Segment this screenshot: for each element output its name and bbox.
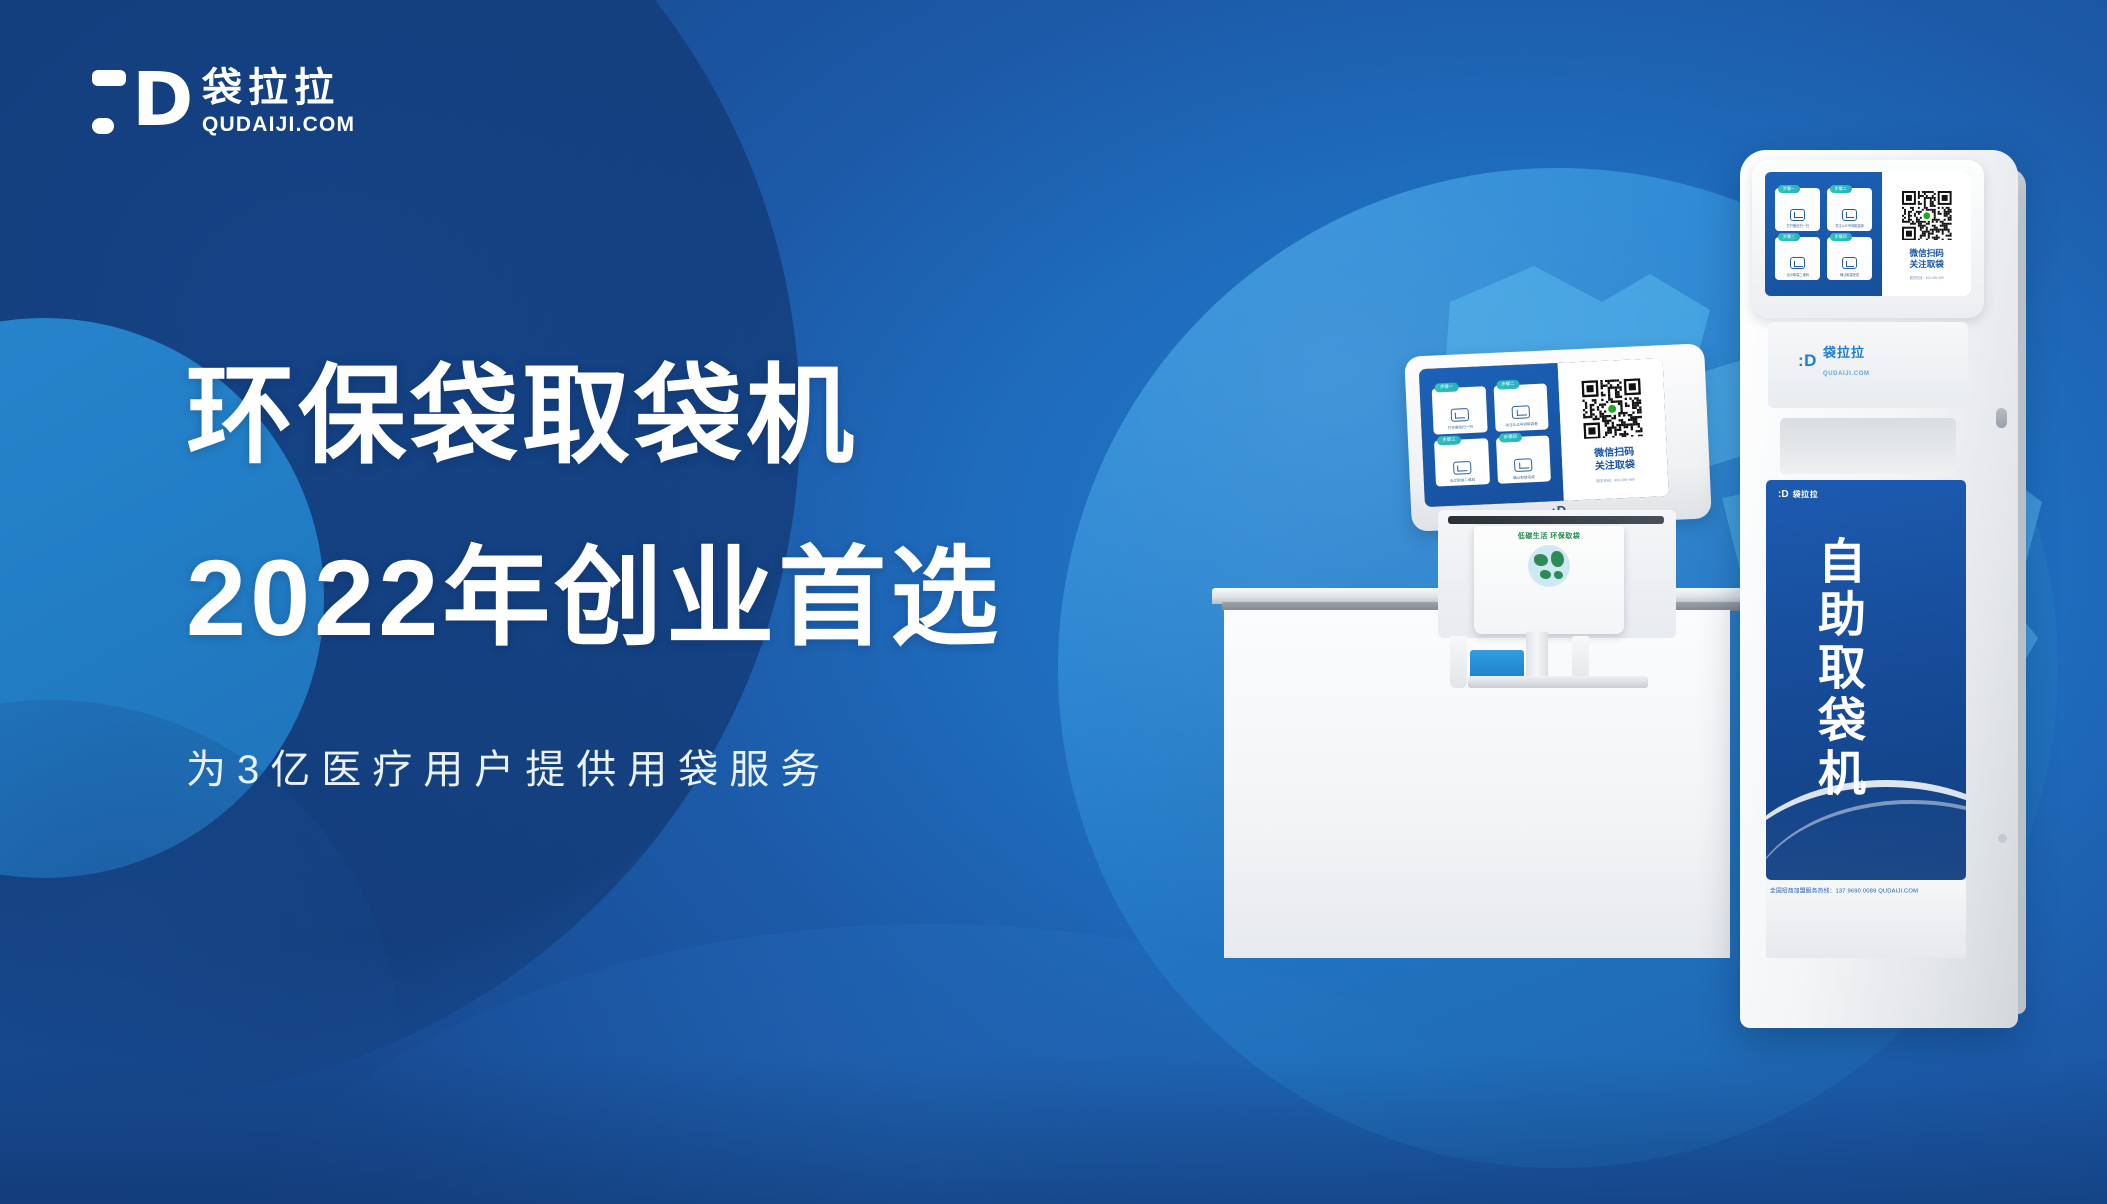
product-scene: 步骤一 打开微信扫一扫 步骤二 关注公众号领取袋券 步骤三 出示取袋二维码 步骤… — [1180, 150, 2060, 1050]
step-card-4[interactable]: 步骤四 确认取袋完成 — [1496, 436, 1551, 484]
qudaiji-d-mark-icon: D — [92, 62, 180, 140]
scan-icon — [1790, 209, 1805, 221]
desktop-bag-dispenser[interactable]: 步骤一 打开微信扫一扫 步骤二 关注公众号领取袋券 步骤三 出示取袋二维码 步骤… — [1408, 350, 1708, 640]
kiosk-d-mark-icon: :D — [1798, 351, 1817, 371]
panel-d-mark-icon: :D — [1778, 489, 1789, 500]
kiosk-head: 步骤一 打开微信扫一扫 步骤二 关注公众号领取袋券 步骤三 出示取袋二维码 步骤… — [1752, 160, 1984, 318]
desktop-unit-head: 步骤一 打开微信扫一扫 步骤二 关注公众号领取袋券 步骤三 出示取袋二维码 步骤… — [1404, 343, 1712, 531]
service-hotline: 服务热线：400-089-989 — [1910, 275, 1944, 280]
step-caption-1: 打开微信扫一扫 — [1787, 224, 1809, 228]
hero-copy: 环保袋取袋机 2022年创业首选 为3亿医疗用户提供用袋服务 — [186, 360, 1186, 794]
stripe-line — [877, 169, 1064, 178]
step-card-3[interactable]: 步骤三 出示取袋二维码 — [1434, 439, 1489, 487]
stripe-line — [845, 98, 1156, 107]
scan-icon — [1450, 408, 1469, 422]
qrcode-icon — [1453, 461, 1472, 475]
step-caption-3: 出示取袋二维码 — [1450, 478, 1475, 484]
self-service-kiosk[interactable]: 步骤一 打开微信扫一扫 步骤二 关注公众号领取袋券 步骤三 出示取袋二维码 步骤… — [1740, 150, 2040, 1030]
wechat-prompt: 微信扫码关注取袋 — [1910, 248, 1944, 270]
hero-subtitle: 为3亿医疗用户提供用袋服务 — [186, 746, 1186, 794]
kiosk-brand-badge: :D 袋拉拉 QUDAIJI.COM — [1798, 348, 1938, 374]
brand-logo[interactable]: D 袋拉拉 QUDAIJI.COM — [92, 62, 355, 140]
stripe-line — [844, 27, 1159, 36]
panel-brand-cn: 袋拉拉 — [1793, 489, 1819, 500]
stripe-line — [840, 63, 1170, 72]
earth-icon — [1528, 545, 1570, 587]
headline-line-2: 2022年创业首选 — [186, 542, 1186, 654]
desktop-unit-stand — [1526, 632, 1548, 680]
step-caption-1: 打开微信扫一扫 — [1448, 425, 1473, 431]
dispensed-bag: 低碳生活 环保取袋 — [1474, 526, 1624, 634]
kiosk-side-port-icon — [1996, 408, 2007, 428]
kiosk-screen[interactable]: 步骤一 打开微信扫一扫 步骤二 关注公众号领取袋券 步骤三 出示取袋二维码 步骤… — [1765, 172, 1971, 296]
kiosk-panel-logo: :D 袋拉拉 — [1778, 489, 1818, 500]
step-card-2[interactable]: 步骤二 关注公众号领取袋券 — [1493, 383, 1548, 431]
check-icon — [1842, 257, 1857, 269]
kiosk-graphic-panel: :D 袋拉拉 自助取袋机 — [1766, 480, 1966, 880]
step-card-4[interactable]: 步骤四 确认取袋完成 — [1827, 237, 1872, 279]
bag-slogan: 低碳生活 环保取袋 — [1518, 531, 1580, 541]
step-label-4: 步骤四 — [1830, 233, 1852, 241]
brand-domain: QUDAIJI.COM — [202, 113, 355, 137]
step-card-3[interactable]: 步骤三 出示取袋二维码 — [1775, 237, 1820, 279]
gift-icon — [1512, 405, 1531, 419]
kiosk-vertical-title: 自助取袋机 — [1808, 536, 1864, 801]
step-label-1: 步骤一 — [1435, 383, 1459, 392]
step-caption-2: 关注公众号领取袋券 — [1505, 422, 1538, 428]
promo-banner: D 袋拉拉 QUDAIJI.COM 环保袋取袋机 2022年创业首选 为3亿医疗… — [0, 0, 2107, 1204]
screen-steps-panel: 步骤一 打开微信扫一扫 步骤二 关注公众号领取袋券 步骤三 出示取袋二维码 步骤… — [1419, 363, 1564, 507]
kiosk-bag-outlet — [1780, 418, 1956, 474]
wechat-prompt: 微信扫码关注取袋 — [1594, 446, 1635, 474]
kiosk-fineprint: 全国招商加盟服务热线：137 9690 0089 QUDAIJI.COM — [1770, 886, 1952, 895]
stripe-line — [889, 187, 1029, 196]
wechat-qr-code[interactable] — [1899, 188, 1954, 243]
stripe-line — [851, 116, 1140, 125]
kiosk-side-screw-icon — [1998, 834, 2007, 843]
screen-qr-panel: 微信扫码关注取袋 服务热线：400-089-989 — [1882, 172, 1971, 296]
stripe-line — [849, 9, 1145, 18]
screen-qr-panel: 微信扫码关注取袋 服务热线：400-089-989 — [1558, 358, 1669, 501]
desktop-unit-screen[interactable]: 步骤一 打开微信扫一扫 步骤二 关注公众号领取袋券 步骤三 出示取袋二维码 步骤… — [1419, 358, 1669, 507]
wechat-qr-code[interactable] — [1578, 375, 1646, 443]
step-caption-3: 出示取袋二维码 — [1787, 273, 1809, 277]
kiosk-badge-cn: 袋拉拉 — [1823, 345, 1865, 360]
gift-icon — [1842, 209, 1857, 221]
bag-dispense-slot — [1448, 516, 1664, 524]
stripe-decoration — [420, 0, 750, 218]
step-label-2: 步骤二 — [1830, 185, 1852, 193]
step-card-2[interactable]: 步骤二 关注公众号领取袋券 — [1827, 188, 1872, 230]
screen-steps-panel: 步骤一 打开微信扫一扫 步骤二 关注公众号领取袋券 步骤三 出示取袋二维码 步骤… — [1765, 172, 1882, 296]
step-label-3: 步骤三 — [1437, 436, 1461, 445]
service-hotline: 服务热线：400-089-989 — [1596, 477, 1635, 484]
stripe-line — [858, 134, 1120, 143]
dispenser-screen-ui: 步骤一 打开微信扫一扫 步骤二 关注公众号领取袋券 步骤三 出示取袋二维码 步骤… — [1419, 358, 1669, 507]
kiosk-screen-ui: 步骤一 打开微信扫一扫 步骤二 关注公众号领取袋券 步骤三 出示取袋二维码 步骤… — [1765, 172, 1971, 296]
step-label-3: 步骤三 — [1778, 233, 1800, 241]
brand-name-cn: 袋拉拉 — [202, 65, 355, 111]
headline-line-1: 环保袋取袋机 — [186, 360, 1186, 472]
step-label-2: 步骤二 — [1496, 380, 1520, 389]
kiosk-badge-en: QUDAIJI.COM — [1823, 371, 1870, 377]
desktop-unit-base — [1468, 676, 1648, 688]
step-card-1[interactable]: 步骤一 打开微信扫一扫 — [1775, 188, 1820, 230]
step-caption-4: 确认取袋完成 — [1840, 273, 1859, 277]
stripe-line — [867, 152, 1094, 161]
check-icon — [1514, 458, 1533, 472]
step-card-1[interactable]: 步骤一 打开微信扫一扫 — [1432, 386, 1487, 434]
step-caption-2: 关注公众号领取袋券 — [1835, 224, 1864, 228]
floor-shadow — [0, 1054, 2107, 1204]
stripe-line — [841, 45, 1168, 54]
step-label-4: 步骤四 — [1499, 433, 1523, 442]
stripe-line — [841, 80, 1166, 89]
step-caption-4: 确认取袋完成 — [1513, 475, 1535, 480]
step-label-1: 步骤一 — [1778, 185, 1800, 193]
qrcode-icon — [1790, 257, 1805, 269]
